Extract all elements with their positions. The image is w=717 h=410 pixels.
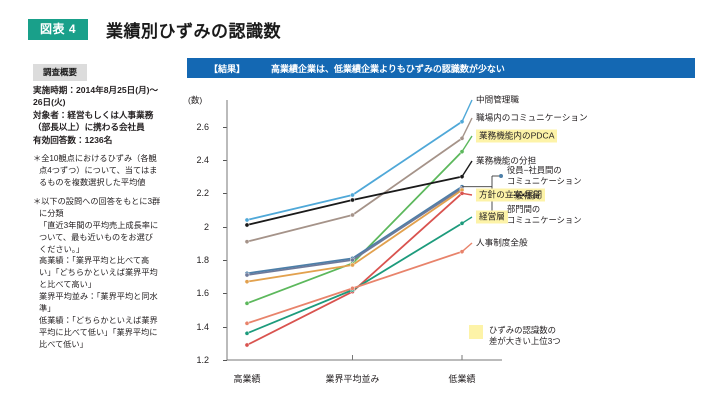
branch-label-2-line2: コミュニケーション (507, 215, 582, 226)
series-point (245, 240, 249, 244)
series-point (245, 343, 249, 347)
result-banner-tag: 【結果】 (209, 62, 245, 75)
survey-note-2-body-0: 「直近3年間の平均売上成長率について、最も近いものをお選びください。」 (33, 220, 161, 256)
series-label-1: 職場内のコミュニケーション (476, 113, 588, 124)
series-point (350, 213, 354, 217)
series-point (245, 301, 249, 305)
survey-note-2-body-3: 低業績：「どちらかといえば業界平均に比べて低い」「業界平均に比べて低い」 (33, 315, 161, 351)
branch-label-0-line2: コミュニケーション (507, 176, 582, 187)
highlight-legend-line-2: 差が大きい上位3つ (489, 336, 561, 347)
branch-label-0: 役員−社員間のコミュニケーション (507, 165, 582, 187)
figure-root: 図表 4 業績別ひずみの認識数 調査概要 実施時期：2014年8月25日(月)～… (0, 0, 717, 410)
survey-overview-panel: 調査概要 実施時期：2014年8月25日(月)～26日(火) 対象者：経営もしく… (33, 62, 161, 351)
survey-note-1-text: ＊全10観点におけるひずみ（各観点4つずつ）について、当てはまるものを複数選択し… (33, 153, 161, 189)
highlight-legend-swatch (469, 325, 483, 339)
series-label-8: 経営層 (476, 211, 508, 224)
series-label-0: 中間管理職 (476, 95, 519, 106)
survey-line-1-label: 対象者 (33, 110, 59, 120)
result-banner: 【結果】 高業績企業は、低業績企業よりもひずみの認識数が少ない (187, 58, 695, 78)
survey-line-2-label: 有効回答数 (33, 135, 76, 145)
series-point (350, 286, 354, 290)
series-line (247, 152, 462, 304)
survey-note-2-body-1: 高業績：「業界平均と比べて高い」「どちらかといえば業界平均と比べて高い」 (33, 255, 161, 291)
label-connector (462, 161, 472, 177)
series-8 (245, 221, 464, 335)
series-label-9: 人事制度全般 (476, 238, 528, 249)
figure-number-badge: 図表 4 (28, 19, 88, 40)
series-point (245, 321, 249, 325)
branch-label-1: 一般社員 (507, 191, 540, 202)
x-tick-0: 高業績 (233, 372, 260, 385)
label-connector (462, 100, 472, 122)
highlight-legend-text: ひずみの認識数の 差が大きい上位3つ (489, 325, 561, 348)
branch-label-0-line1: 役員−社員間の (507, 165, 582, 176)
branch-marker (499, 174, 503, 178)
series-point (245, 218, 249, 222)
survey-line-1: 対象者：経営もしくは人事業務（部長以上）に携わる会社員 (33, 109, 161, 134)
line-chart: (数) 1.21.41.61.822.22.42.6 高業績業界平均並み低業績 … (187, 88, 697, 388)
survey-overview-heading: 調査概要 (33, 64, 87, 81)
label-connector (462, 217, 472, 223)
series-line (247, 138, 462, 241)
survey-note-1: ＊全10観点におけるひずみ（各観点4つずつ）について、当てはまるものを複数選択し… (33, 153, 161, 189)
survey-line-2: 有効回答数：1236名 (33, 134, 161, 146)
label-connector (462, 243, 472, 252)
series-point (350, 198, 354, 202)
result-banner-message: 高業績企業は、低業績企業よりもひずみの認識数が少ない (271, 62, 505, 75)
series-point (350, 258, 354, 262)
branch-label-1-line1: 一般社員 (507, 191, 540, 202)
series-point (350, 193, 354, 197)
chart-plot-area (187, 88, 697, 388)
series-point (245, 223, 249, 227)
highlight-legend: ひずみの認識数の 差が大きい上位3つ (469, 325, 561, 348)
survey-line-0: 実施時期：2014年8月25日(月)～26日(火) (33, 84, 161, 109)
branch-label-2-line1: 部門間の (507, 204, 582, 215)
survey-line-2-text: ：1236名 (76, 135, 112, 145)
x-tick-1: 業界平均並み (325, 372, 379, 385)
branch-label-2: 部門間のコミュニケーション (507, 204, 582, 226)
x-tick-2: 低業績 (448, 372, 475, 385)
series-point (350, 263, 354, 267)
series-label-2: 業務機能内のPDCA (476, 130, 557, 143)
series-point (245, 331, 249, 335)
series-line (247, 223, 462, 333)
series-1 (245, 136, 464, 244)
survey-line-0-label: 実施時期 (33, 85, 67, 95)
survey-note-2-body-2: 業界平均並み：「業界平均と同水準」 (33, 291, 161, 315)
series-line (247, 122, 462, 220)
survey-note-2: ＊以下の設問への回答をもとに3群に分類 「直近3年間の平均売上成長率について、最… (33, 196, 161, 351)
series-point (245, 273, 249, 277)
series-3 (245, 175, 464, 228)
highlight-legend-line-1: ひずみの認識数の (489, 325, 561, 336)
page-title: 図表 4 業績別ひずみの認識数 (28, 17, 281, 42)
survey-note-2-head: ＊以下の設問への回答をもとに3群に分類 (33, 196, 161, 220)
figure-title-text: 業績別ひずみの認識数 (106, 17, 281, 42)
series-2 (245, 150, 464, 306)
series-point (245, 280, 249, 284)
